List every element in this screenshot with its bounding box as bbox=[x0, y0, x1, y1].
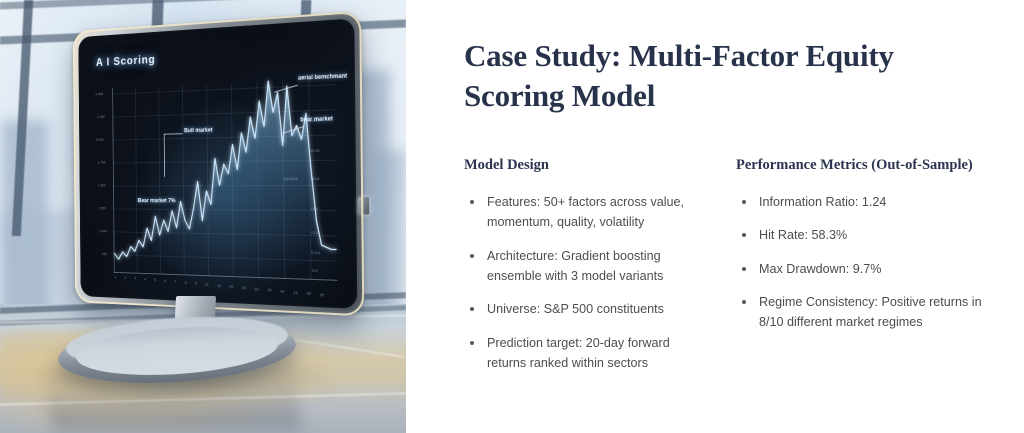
list-item: Features: 50+ factors across value, mome… bbox=[464, 192, 708, 233]
section-heading-model-design: Model Design bbox=[464, 155, 708, 176]
list-item: Regime Consistency: Positive returns in … bbox=[736, 292, 988, 333]
screen-title: A I Scoring bbox=[96, 53, 156, 69]
monitor: A I Scoring bbox=[73, 11, 365, 317]
monitor-power-button[interactable] bbox=[358, 197, 369, 214]
list-item: Hit Rate: 58.3% bbox=[736, 225, 988, 245]
page-title: Case Study: Multi-Factor Equity Scoring … bbox=[464, 36, 974, 115]
list-item: Prediction target: 20-day forward return… bbox=[464, 333, 708, 374]
list-item: Max Drawdown: 9.7% bbox=[736, 259, 988, 279]
section-heading-performance-metrics: Performance Metrics (Out-of-Sample) bbox=[736, 155, 988, 176]
chart-plot-area: 2,500 2,250 2,000 1,750 1,500 1,250 1,00… bbox=[98, 72, 340, 274]
content-panel: Case Study: Multi-Factor Equity Scoring … bbox=[406, 0, 1024, 433]
right-inline-value: 1013403 bbox=[283, 177, 297, 181]
annotation-market-benchmark: aerial bemchmant bbox=[298, 73, 347, 81]
column-model-design: Model Design Features: 50+ factors acros… bbox=[464, 155, 708, 386]
monitor-bezel: A I Scoring bbox=[73, 11, 365, 317]
two-column-layout: Model Design Features: 50+ factors acros… bbox=[464, 155, 988, 386]
monitor-floor-reflection bbox=[44, 372, 302, 430]
list-item: Information Ratio: 1.24 bbox=[736, 192, 988, 212]
slide-root: A I Scoring bbox=[0, 0, 1024, 433]
list-item: Universe: S&P 500 constituents bbox=[464, 299, 708, 319]
bullet-list-model-design: Features: 50+ factors across value, mome… bbox=[464, 192, 708, 374]
annotation-bear-market-right: bear market bbox=[300, 116, 333, 123]
list-item: Architecture: Gradient boosting ensemble… bbox=[464, 246, 708, 287]
column-performance-metrics: Performance Metrics (Out-of-Sample) Info… bbox=[736, 155, 988, 386]
hero-image-monitor: A I Scoring bbox=[0, 0, 406, 433]
bullet-list-performance-metrics: Information Ratio: 1.24 Hit Rate: 58.3% … bbox=[736, 192, 988, 333]
annotation-bull-market: Bull market bbox=[184, 128, 212, 134]
chart-line-series bbox=[98, 72, 340, 288]
annotation-bear-market-left: Bear market 7% bbox=[138, 198, 176, 204]
monitor-screen: A I Scoring bbox=[78, 18, 357, 309]
